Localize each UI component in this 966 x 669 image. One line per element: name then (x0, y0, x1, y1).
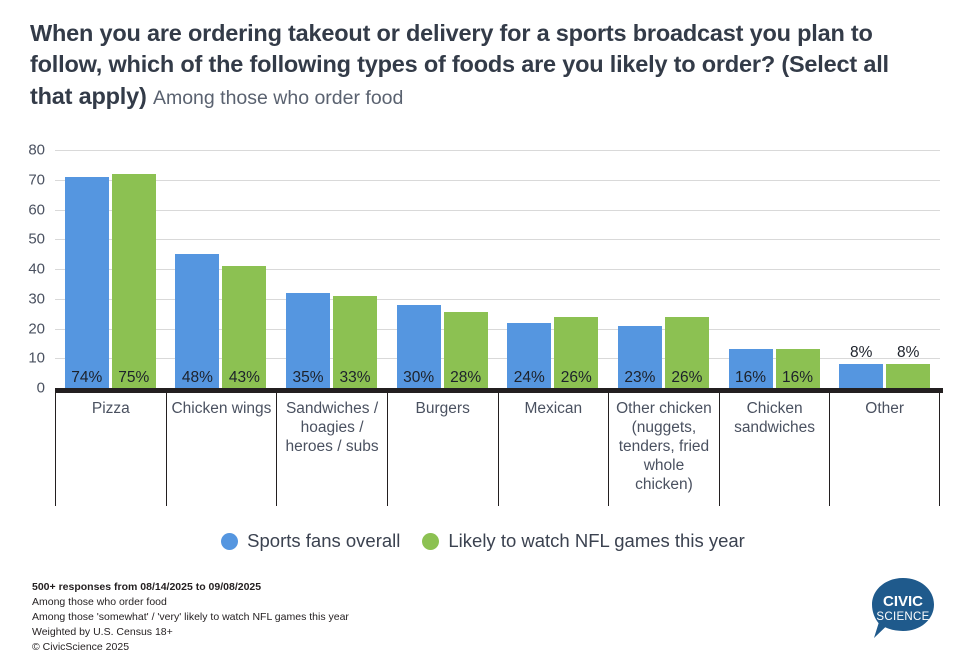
y-axis-tick-label: 60 (28, 201, 45, 218)
category-label: Sandwiches / hoagies / heroes / subs (276, 393, 387, 506)
legend-circle-icon (221, 533, 238, 550)
bar-value-label: 75% (118, 370, 149, 386)
y-axis-tick-label: 10 (28, 350, 45, 367)
y-axis-tick-label: 70 (28, 171, 45, 188)
bar-value-label: 43% (229, 370, 260, 386)
category-label: Pizza (55, 393, 166, 506)
bar[interactable]: 8% (886, 364, 930, 388)
footnotes: 500+ responses from 08/14/2025 to 09/08/… (32, 580, 349, 655)
y-axis-tick-label: 40 (28, 261, 45, 278)
bar[interactable]: 28% (444, 312, 488, 388)
logo-text-science: SCIENCE (876, 611, 929, 623)
bar[interactable]: 35% (286, 293, 330, 388)
bar[interactable]: 23% (618, 326, 662, 388)
category-label: Burgers (387, 393, 498, 506)
legend-label: Likely to watch NFL games this year (448, 530, 744, 552)
page-title: When you are ordering takeout or deliver… (30, 18, 930, 112)
bar-group: 35%33% (276, 150, 387, 388)
footnote-nfl-base: Among those 'somewhat' / 'very' likely t… (32, 610, 349, 625)
bar-value-label: 23% (624, 370, 655, 386)
plot-area: 01020304050607080 74%75%48%43%35%33%30%2… (55, 150, 940, 388)
bar[interactable]: 30% (397, 305, 441, 388)
bar-value-label: 16% (735, 370, 766, 386)
bar[interactable]: 75% (112, 174, 156, 388)
bar[interactable]: 26% (554, 317, 598, 388)
footnote-copyright: © CivicScience 2025 (32, 640, 349, 655)
bar-value-label: 35% (293, 370, 324, 386)
bar-value-label: 28% (450, 370, 481, 386)
bar-group: 48%43% (166, 150, 277, 388)
bar-value-label: 16% (782, 370, 813, 386)
bar-value-label: 24% (514, 370, 545, 386)
bar[interactable]: 16% (729, 349, 773, 388)
chart-subtitle: Among those who order food (153, 87, 403, 109)
bar[interactable]: 74% (65, 177, 109, 388)
category-label: Other (829, 393, 940, 506)
logo-text-civic: CIVIC (883, 593, 923, 610)
bar-value-label: 8% (850, 345, 872, 361)
bar[interactable]: 16% (776, 349, 820, 388)
legend-label: Sports fans overall (247, 530, 400, 552)
y-axis-tick-label: 30 (28, 290, 45, 307)
chart-legend: Sports fans overallLikely to watch NFL g… (0, 530, 966, 552)
bar-group: 8%8% (829, 150, 940, 388)
footnote-weighting: Weighted by U.S. Census 18+ (32, 625, 349, 640)
category-axis-table: PizzaChicken wingsSandwiches / hoagies /… (55, 391, 943, 504)
bar-value-label: 33% (340, 370, 371, 386)
bar[interactable]: 8% (839, 364, 883, 388)
legend-circle-icon (422, 533, 439, 550)
chart-title: When you are ordering takeout or deliver… (30, 18, 930, 112)
category-label: Mexican (498, 393, 609, 506)
y-axis-tick-label: 80 (28, 142, 45, 159)
legend-item[interactable]: Sports fans overall (221, 530, 400, 552)
bar-group: 24%26% (498, 150, 609, 388)
bar-group: 16%16% (719, 150, 830, 388)
bar-value-label: 26% (671, 370, 702, 386)
bar[interactable]: 43% (222, 266, 266, 388)
category-label: Chicken wings (166, 393, 277, 506)
bar-group: 74%75% (55, 150, 166, 388)
bar[interactable]: 24% (507, 323, 551, 388)
civicscience-logo: CIVIC SCIENCE (866, 576, 940, 646)
footnote-base: Among those who order food (32, 595, 349, 610)
category-label: Chicken sandwiches (719, 393, 830, 506)
y-axis-tick-label: 20 (28, 320, 45, 337)
bar-value-label: 74% (71, 370, 102, 386)
y-axis-tick-label: 0 (37, 380, 45, 397)
bar-group: 30%28% (387, 150, 498, 388)
bar-value-label: 26% (561, 370, 592, 386)
bar-group: 23%26% (608, 150, 719, 388)
bar-value-label: 8% (897, 345, 919, 361)
bar-value-label: 30% (403, 370, 434, 386)
bar[interactable]: 26% (665, 317, 709, 388)
bar[interactable]: 33% (333, 296, 377, 388)
bar-value-label: 48% (182, 370, 213, 386)
category-label: Other chicken (nuggets, tenders, fried w… (608, 393, 719, 506)
y-axis-tick-label: 50 (28, 231, 45, 248)
footnote-responses: 500+ responses from 08/14/2025 to 09/08/… (32, 580, 349, 595)
chart-canvas: 01020304050607080 74%75%48%43%35%33%30%2… (0, 128, 966, 398)
bar[interactable]: 48% (175, 254, 219, 388)
legend-item[interactable]: Likely to watch NFL games this year (422, 530, 744, 552)
speech-bubble-icon: CIVIC SCIENCE (866, 576, 940, 646)
